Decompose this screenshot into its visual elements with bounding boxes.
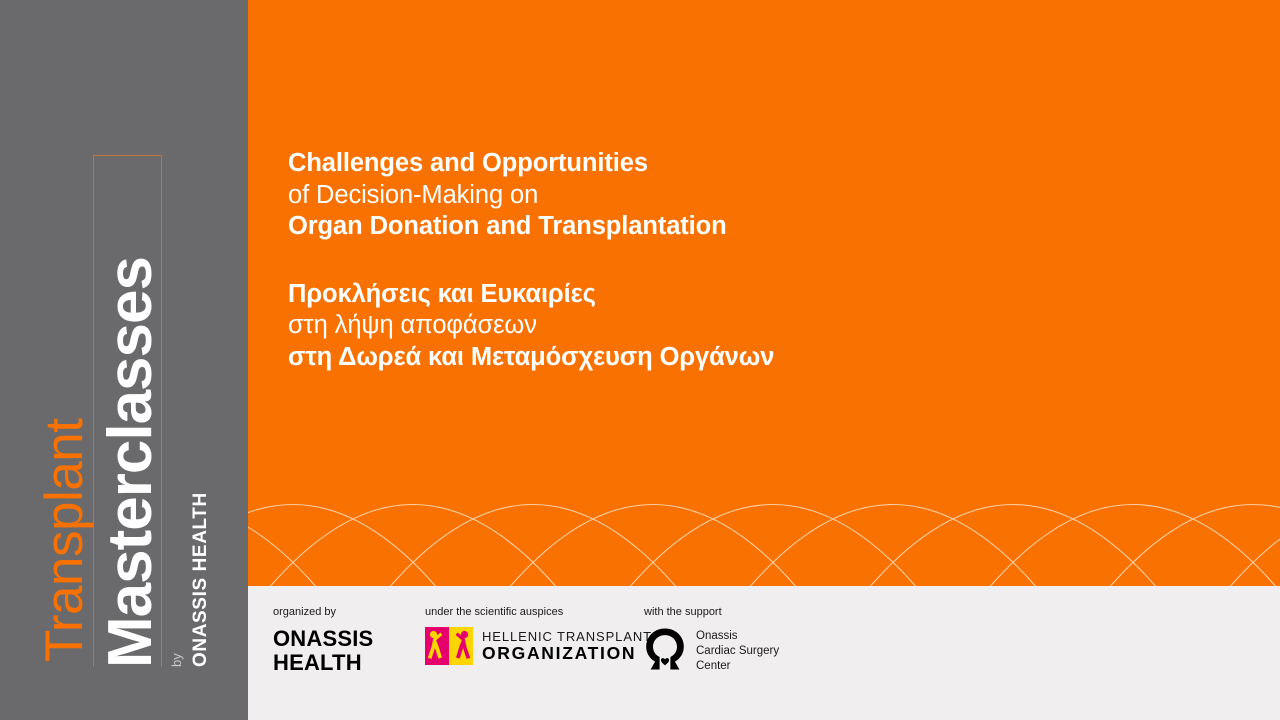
credit-organized-by: organized by ONASSIS HEALTH <box>273 606 373 675</box>
omega-heart-icon <box>644 627 686 676</box>
title-en-line-2: of Decision-Making on <box>288 180 1228 212</box>
presentation-slide: Transplant Masterclasses by ONASSIS HEAL… <box>0 0 1280 720</box>
credit-with-the-support: with the support Onassis Cardiac Surgery… <box>644 606 779 676</box>
footer-credits-bar: organized by ONASSIS HEALTH under the sc… <box>248 586 1280 720</box>
title-en-line-1: Challenges and Opportunities <box>288 148 1228 180</box>
slide-title-block: Challenges and Opportunities of Decision… <box>288 148 1228 374</box>
ocsc-logo-line-2: Cardiac Surgery <box>696 644 779 659</box>
hto-emblem-right-square <box>449 627 473 665</box>
hto-emblem-icon <box>425 627 473 665</box>
ocsc-logo-line-3: Center <box>696 659 779 674</box>
onassis-health-logo: ONASSIS HEALTH <box>273 627 373 675</box>
brand-title-masterclasses: Masterclasses <box>100 257 162 668</box>
hellenic-transplant-organization-logo: HELLENIC TRANSPLANT ORGANIZATION <box>425 627 652 665</box>
onassis-health-logo-line-2: HEALTH <box>273 651 373 675</box>
onassis-health-logo-line-1: ONASSIS <box>273 627 373 651</box>
onassis-cardiac-surgery-center-logo: Onassis Cardiac Surgery Center <box>644 627 779 676</box>
title-el-line-3: στη Δωρεά και Μεταμόσχευση Οργάνων <box>288 342 1228 374</box>
title-en-line-3: Organ Donation and Transplantation <box>288 211 1228 243</box>
brand-byline-prefix: by <box>170 653 183 667</box>
credit-label-with-the-support: with the support <box>644 606 779 619</box>
ocsc-logo-line-1: Onassis <box>696 629 779 644</box>
title-spacer <box>288 243 1228 279</box>
brand-sidebar: Transplant Masterclasses by ONASSIS HEAL… <box>0 0 248 720</box>
title-el-line-2: στη λήψη αποφάσεων <box>288 310 1228 342</box>
credit-scientific-auspices: under the scientific auspices <box>425 606 652 665</box>
brand-title-transplant: Transplant <box>38 419 91 662</box>
hto-emblem-left-square <box>425 627 449 665</box>
decorative-arc-pattern <box>248 426 1280 586</box>
credit-label-organized-by: organized by <box>273 606 373 619</box>
hto-logo-line-1: HELLENIC TRANSPLANT <box>482 630 652 643</box>
hto-logo-line-2: ORGANIZATION <box>482 645 652 663</box>
brand-byline-onassis-health: ONASSIS HEALTH <box>191 492 210 667</box>
main-panel: Challenges and Opportunities of Decision… <box>248 0 1280 586</box>
credit-label-scientific-auspices: under the scientific auspices <box>425 606 652 619</box>
title-el-line-1: Προκλήσεις και Ευκαιρίες <box>288 279 1228 311</box>
